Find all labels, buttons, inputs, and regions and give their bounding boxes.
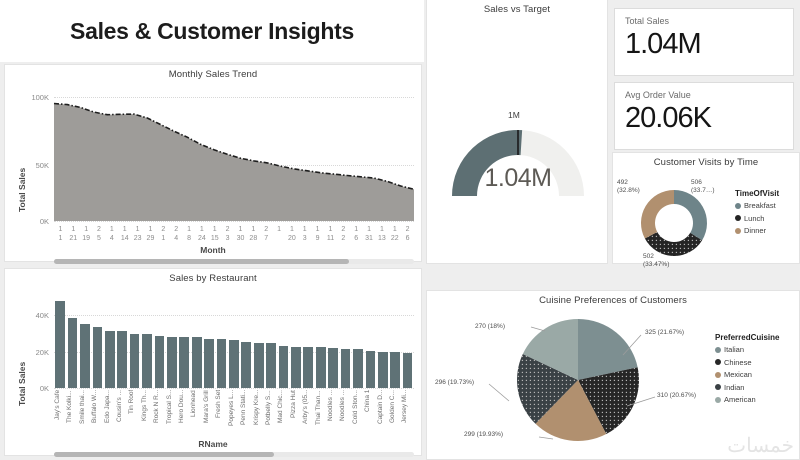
pie-label-indian: 296 (19.73%) <box>435 379 474 387</box>
kpi-total-sales-label: Total Sales <box>625 16 783 26</box>
restaurant-bar-column[interactable] <box>265 298 277 388</box>
trend-x-tick: 18 <box>183 226 196 243</box>
trend-x-tick: 23 <box>221 226 234 243</box>
restaurant-name-label: The Kolki... <box>66 390 78 436</box>
restaurant-name-label: Kings Th... <box>141 390 153 436</box>
sales-by-restaurant-title: Sales by Restaurant <box>5 269 421 284</box>
trend-x-tick: 21 <box>157 226 170 243</box>
trend-x-tick: 114 <box>118 226 131 243</box>
restaurant-name-label: Potbelly S... <box>265 390 277 436</box>
legend-item-label: Breakfast <box>744 201 776 210</box>
restaurant-bar-column[interactable] <box>178 298 190 388</box>
restaurant-bar-column[interactable] <box>66 298 78 388</box>
restaurant-bar-column[interactable] <box>302 298 314 388</box>
restaurant-bar-column[interactable] <box>153 298 165 388</box>
sales-vs-target-title: Sales vs Target <box>427 0 607 15</box>
gauge-arc-graphic <box>427 88 609 218</box>
restaurant-bar-column[interactable] <box>327 298 339 388</box>
donut-legend-items: BreakfastLunchDinner <box>735 201 779 235</box>
restaurant-bar-column[interactable] <box>352 298 364 388</box>
legend-color-dot <box>735 203 741 209</box>
kpi-avg-order-value-value: 20.06K <box>625 102 783 135</box>
sales-vs-target-card: Sales vs Target 1M 1.04M <box>426 0 608 264</box>
restaurant-name-label: Mad Chic... <box>277 390 289 436</box>
restaurant-bar[interactable] <box>204 339 214 389</box>
restaurant-bar-column[interactable] <box>215 298 227 388</box>
restaurant-name-label: Noodles ... <box>327 390 339 436</box>
donut-label-lunch: 502(33.47%) <box>643 253 669 269</box>
legend-color-dot <box>735 215 741 221</box>
restaurant-bar[interactable] <box>316 347 326 388</box>
restaurant-bar-column[interactable] <box>253 298 265 388</box>
trend-x-tick: 129 <box>144 226 157 243</box>
legend-item-label: Lunch <box>744 214 764 223</box>
pie-legend-item[interactable]: American <box>715 395 779 404</box>
donut-slice[interactable] <box>674 190 707 240</box>
monthly-sales-trend-card: Monthly Sales Trend Total Sales 100K 50K… <box>4 64 422 262</box>
restaurant-name-label: Cousin's ... <box>116 390 128 436</box>
kpi-card-avg-order-value: Avg Order Value 20.06K <box>614 82 794 150</box>
trend-x-tick: 128 <box>247 226 260 243</box>
restaurant-bar-column[interactable] <box>54 298 66 388</box>
donut-label-breakfast: 506(33.7…) <box>691 179 714 195</box>
restaurant-bar-column[interactable] <box>79 298 91 388</box>
trend-scrollbar-thumb[interactable] <box>54 259 349 264</box>
restaurant-name-label: Rock N R... <box>153 390 165 436</box>
donut-legend-title: TimeOfVisit <box>735 189 779 198</box>
bars-gridline-0k <box>54 388 414 389</box>
restaurant-bar[interactable] <box>130 334 140 388</box>
kpi-total-sales-value: 1.04M <box>625 28 783 61</box>
customer-visits-by-time-card: Customer Visits by Time 506(33.7…) 502(3… <box>612 152 800 264</box>
cuisine-preferences-pie <box>517 319 639 441</box>
cuisine-preferences-title: Cuisine Preferences of Customers <box>427 291 799 306</box>
restaurant-bar[interactable] <box>93 327 103 388</box>
trend-x-tick: 14 <box>105 226 118 243</box>
restaurant-name-label: Popeyes L... <box>228 390 240 436</box>
donut-legend-item[interactable]: Lunch <box>735 214 779 223</box>
restaurant-name-label: Captain D... <box>377 390 389 436</box>
restaurant-bar[interactable] <box>378 352 388 388</box>
trend-x-tick: 25 <box>93 226 106 243</box>
restaurant-name-label: Jersey Mi... <box>401 390 413 436</box>
restaurant-bar[interactable] <box>390 352 400 388</box>
trend-x-tick: 27 <box>260 226 273 243</box>
restaurant-bar-column[interactable] <box>116 298 128 388</box>
bars-horizontal-scrollbar[interactable] <box>54 452 414 457</box>
sales-by-restaurant-card: Sales by Restaurant Total Sales 40K 20K … <box>4 268 422 456</box>
restaurant-bar-group <box>54 298 414 388</box>
trend-area-series <box>54 89 414 221</box>
restaurant-name-label: Arby's (05... <box>302 390 314 436</box>
restaurant-bar[interactable] <box>291 347 301 388</box>
pie-slices <box>517 319 639 441</box>
trend-x-tick: 119 <box>80 226 93 243</box>
restaurant-name-label: Pizza Hut <box>290 390 302 436</box>
restaurant-name-label: Jay's Cafe <box>54 390 66 436</box>
gauge-value-text: 1.04M <box>427 164 609 193</box>
sales-vs-target-gauge: 1M 1.04M <box>427 88 609 218</box>
restaurant-bar[interactable] <box>155 336 165 388</box>
restaurant-name-label: Cold Ston... <box>352 390 364 436</box>
restaurant-bar-column[interactable] <box>290 298 302 388</box>
restaurant-name-label: Mara's Grill <box>203 390 215 436</box>
legend-item-label: Italian <box>724 345 744 354</box>
restaurant-bar[interactable] <box>241 342 251 388</box>
dashboard-header: Sales & Customer Insights <box>0 0 424 62</box>
legend-item-label: Indian <box>724 383 744 392</box>
restaurant-bar-column[interactable] <box>377 298 389 388</box>
customer-visits-donut: 506(33.7…) 502(33.47%) 492(32.8%) <box>619 183 729 263</box>
trend-x-tick: 111 <box>324 226 337 243</box>
monthly-sales-trend-title: Monthly Sales Trend <box>5 65 421 80</box>
restaurant-bar[interactable] <box>353 349 363 388</box>
pie-legend-item[interactable]: Italian <box>715 345 779 354</box>
kpi-card-total-sales: Total Sales 1.04M <box>614 8 794 76</box>
legend-item-label: Dinner <box>744 226 766 235</box>
restaurant-name-label: Krispy Kre... <box>253 390 265 436</box>
donut-legend: TimeOfVisit BreakfastLunchDinner <box>735 189 779 239</box>
restaurant-name-label: Noodles ... <box>339 390 351 436</box>
pie-leader-line <box>489 384 509 401</box>
bars-y-tick-20k: 20K <box>19 348 49 357</box>
legend-color-dot <box>715 397 721 403</box>
bars-x-axis-label: RName <box>5 439 421 449</box>
restaurant-name-label: Thai Than... <box>315 390 327 436</box>
kpi-avg-order-value-label: Avg Order Value <box>625 90 783 100</box>
trend-x-tick: 113 <box>375 226 388 243</box>
page-title: Sales & Customer Insights <box>70 18 354 45</box>
trend-x-tick: 123 <box>131 226 144 243</box>
trend-y-tick-100k: 100K <box>19 93 49 102</box>
restaurant-bar-column[interactable] <box>190 298 202 388</box>
restaurant-bar[interactable] <box>179 337 189 388</box>
pie-label-italian: 325 (21.67%) <box>645 329 684 337</box>
restaurant-bar-column[interactable] <box>240 298 252 388</box>
donut-slice[interactable] <box>641 190 674 239</box>
trend-x-tick: 1 <box>273 226 286 243</box>
restaurant-bar-column[interactable] <box>401 298 413 388</box>
legend-color-dot <box>715 372 721 378</box>
restaurant-bar[interactable] <box>68 318 78 388</box>
restaurant-bar-column[interactable] <box>203 298 215 388</box>
trend-x-tick: 26 <box>401 226 414 243</box>
legend-color-dot <box>735 228 741 234</box>
restaurant-category-labels: Jay's CafeThe Kolki...Smile thai...Buffa… <box>54 390 414 436</box>
trend-x-tick: 19 <box>311 226 324 243</box>
trend-gridline-0k <box>54 221 414 222</box>
restaurant-name-label: Fresh Set <box>215 390 227 436</box>
restaurant-name-label: Tin Roof <box>128 390 140 436</box>
gauge-target-label: 1M <box>508 110 520 120</box>
restaurant-bar[interactable] <box>229 340 239 388</box>
donut-legend-item[interactable]: Breakfast <box>735 201 779 210</box>
restaurant-bar-column[interactable] <box>141 298 153 388</box>
legend-color-dot <box>715 384 721 390</box>
restaurant-bar-column[interactable] <box>128 298 140 388</box>
restaurant-bar[interactable] <box>341 349 351 388</box>
legend-item-label: Chinese <box>724 358 752 367</box>
restaurant-bar-column[interactable] <box>104 298 116 388</box>
pie-legend-items: ItalianChineseMexicanIndianAmerican <box>715 345 779 404</box>
trend-x-tick: 115 <box>208 226 221 243</box>
restaurant-bar-column[interactable] <box>315 298 327 388</box>
restaurant-bar-column[interactable] <box>389 298 401 388</box>
restaurant-name-label: Edo Japa... <box>104 390 116 436</box>
trend-x-tick: 124 <box>195 226 208 243</box>
trend-y-axis-label: Total Sales <box>17 168 27 212</box>
restaurant-bar[interactable] <box>328 348 338 389</box>
restaurant-bar[interactable] <box>266 343 276 388</box>
pie-legend-item[interactable]: Indian <box>715 383 779 392</box>
restaurant-name-label: Buffalo W... <box>91 390 103 436</box>
pie-legend-item[interactable]: Chinese <box>715 358 779 367</box>
bars-y-tick-40k: 40K <box>19 311 49 320</box>
donut-slices <box>619 183 729 263</box>
trend-x-tick: 16 <box>350 226 363 243</box>
restaurant-bar-column[interactable] <box>339 298 351 388</box>
trend-x-tick: 130 <box>234 226 247 243</box>
restaurant-bar-column[interactable] <box>277 298 289 388</box>
trend-area-fill <box>54 104 414 222</box>
restaurant-bar[interactable] <box>80 324 90 388</box>
restaurant-bar[interactable] <box>366 351 376 388</box>
legend-color-dot <box>715 359 721 365</box>
restaurant-bar[interactable] <box>55 301 65 388</box>
legend-item-label: Mexican <box>724 370 752 379</box>
restaurant-bar[interactable] <box>192 337 202 388</box>
restaurant-bar-column[interactable] <box>364 298 376 388</box>
trend-x-tick: 24 <box>170 226 183 243</box>
restaurant-name-label: Tropical S... <box>166 390 178 436</box>
trend-x-tick: 122 <box>388 226 401 243</box>
bars-scrollbar-thumb[interactable] <box>54 452 274 457</box>
restaurant-bar[interactable] <box>117 331 127 388</box>
restaurant-name-label: Lionhead <box>190 390 202 436</box>
restaurant-name-label: Golden C... <box>389 390 401 436</box>
restaurant-bar[interactable] <box>254 343 264 388</box>
restaurant-bar-column[interactable] <box>91 298 103 388</box>
restaurant-bar-column[interactable] <box>228 298 240 388</box>
trend-x-tick: 11 <box>54 226 67 243</box>
restaurant-name-label: Hero Dou... <box>178 390 190 436</box>
trend-x-tick: 131 <box>363 226 376 243</box>
bars-y-tick-0k: 0K <box>19 384 49 393</box>
restaurant-bar[interactable] <box>217 339 227 388</box>
pie-legend-title: PreferredCuisine <box>715 333 779 342</box>
trend-x-tick: 121 <box>67 226 80 243</box>
pie-label-chinese: 310 (20.67%) <box>657 392 696 400</box>
cuisine-preferences-card: Cuisine Preferences of Customers 325 (21… <box>426 290 800 460</box>
donut-legend-item[interactable]: Dinner <box>735 226 779 235</box>
legend-color-dot <box>715 347 721 353</box>
pie-legend-item[interactable]: Mexican <box>715 370 779 379</box>
trend-y-tick-0k: 0K <box>19 217 49 226</box>
restaurant-bar[interactable] <box>403 353 413 388</box>
trend-x-tick: 13 <box>298 226 311 243</box>
restaurant-name-label: China 1 <box>364 390 376 436</box>
restaurant-bar[interactable] <box>167 337 177 388</box>
legend-item-label: American <box>724 395 756 404</box>
donut-label-dinner: 492(32.8%) <box>617 179 640 195</box>
restaurant-name-label: Penn Stati... <box>240 390 252 436</box>
trend-x-tick: 120 <box>285 226 298 243</box>
pie-legend: PreferredCuisine ItalianChineseMexicanIn… <box>715 333 779 408</box>
trend-x-tick: 22 <box>337 226 350 243</box>
restaurant-bar[interactable] <box>303 347 313 388</box>
pie-label-american: 270 (18%) <box>475 323 505 331</box>
dashboard-canvas: Sales & Customer Insights Monthly Sales … <box>0 0 800 460</box>
restaurant-bar-column[interactable] <box>166 298 178 388</box>
trend-y-tick-50k: 50K <box>19 161 49 170</box>
pie-label-mexican: 299 (19.93%) <box>464 431 503 439</box>
customer-visits-title: Customer Visits by Time <box>613 153 799 168</box>
restaurant-bar[interactable] <box>279 346 289 388</box>
restaurant-bar[interactable] <box>142 334 152 388</box>
trend-x-tick-group: 1112111925141141231292124181241152313012… <box>54 226 414 243</box>
restaurant-bar[interactable] <box>105 331 115 388</box>
trend-x-axis-label: Month <box>5 245 421 255</box>
restaurant-name-label: Smile thai... <box>79 390 91 436</box>
trend-horizontal-scrollbar[interactable] <box>54 259 414 264</box>
